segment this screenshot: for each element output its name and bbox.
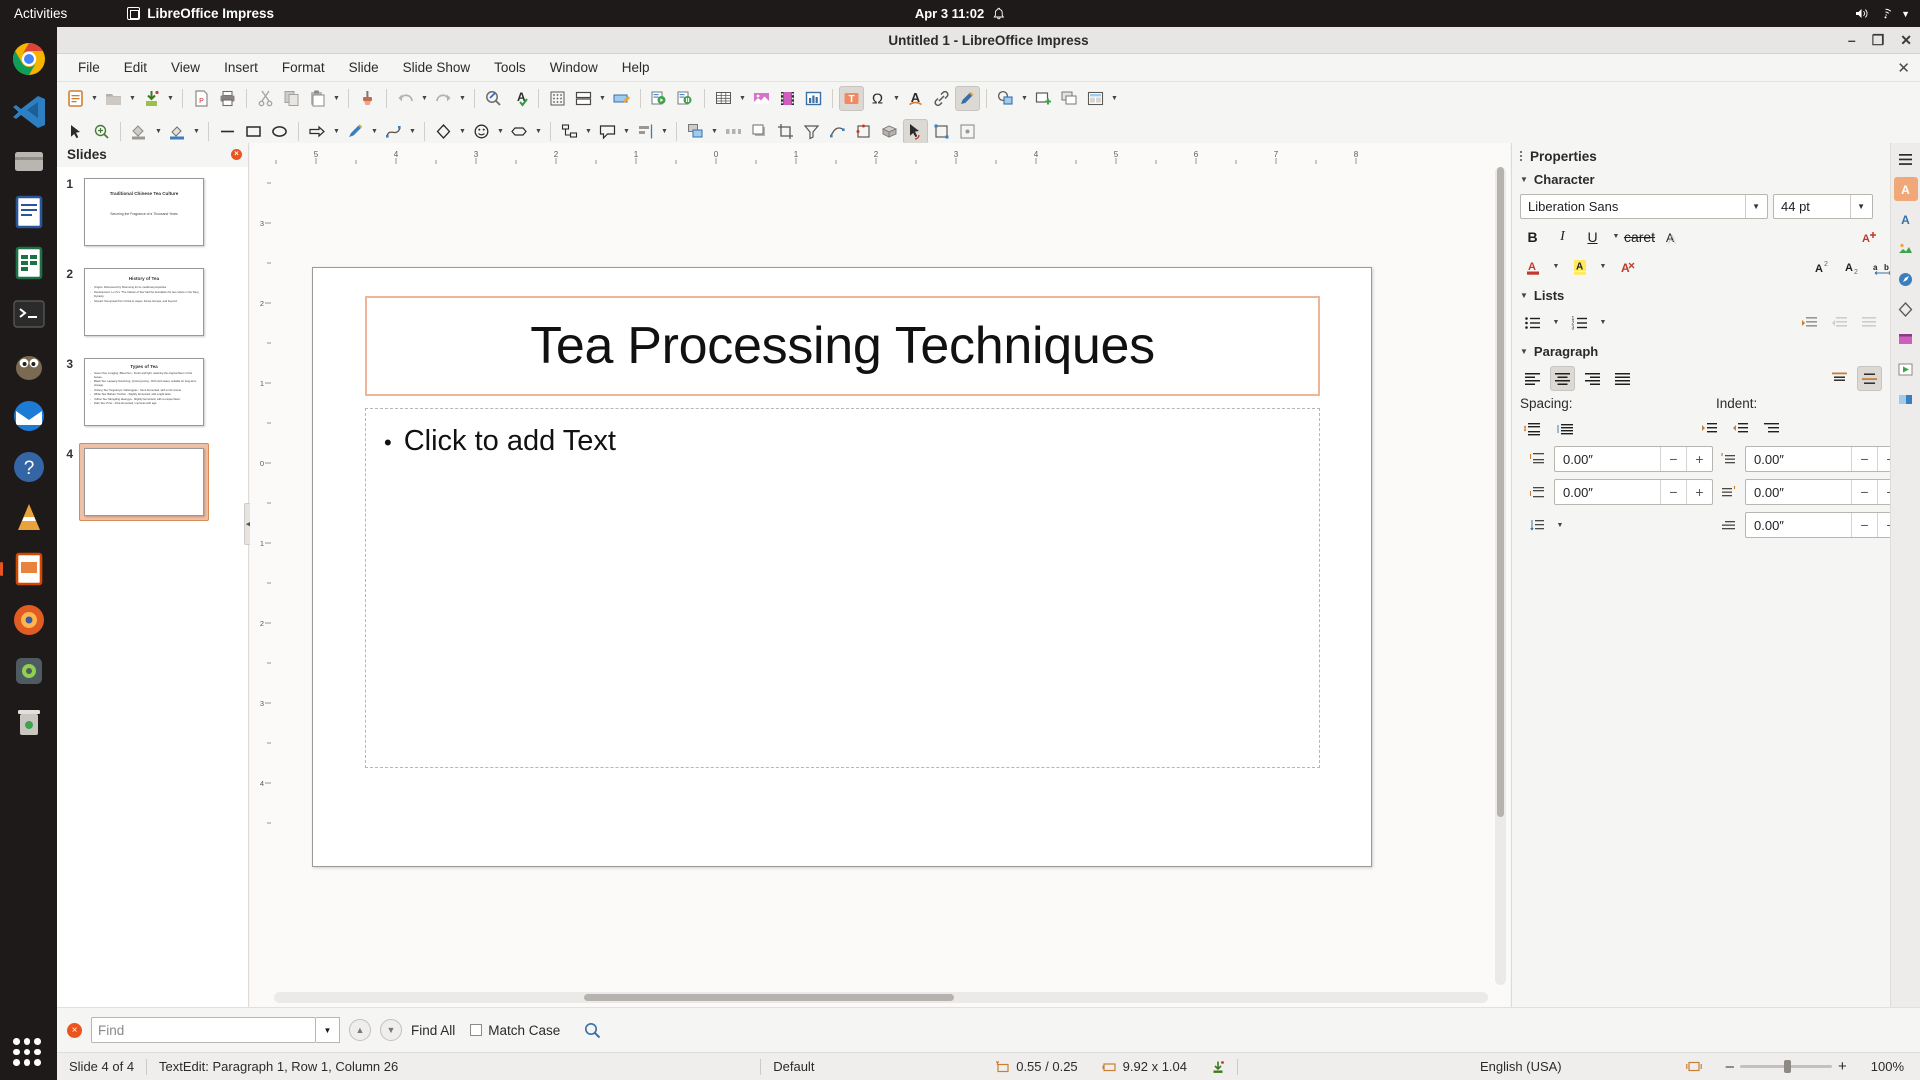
svg-text:2: 2 (1824, 261, 1828, 268)
dock-item-vlc[interactable] (9, 498, 49, 538)
save-state-status[interactable] (1199, 1053, 1237, 1080)
sidebar-grip-icon[interactable] (1520, 151, 1522, 161)
insert-table-icon[interactable] (711, 86, 736, 111)
paragraph-fields-grid: 0.00″ − + 0.00″ − + 0.00″ − + (1520, 446, 1912, 538)
toolbar-separator (298, 122, 299, 141)
vertical-ruler[interactable]: 3210 1234 (256, 163, 271, 993)
toolbar-separator (676, 122, 677, 141)
toolbar-separator (348, 89, 349, 108)
standard-toolbar[interactable]: ▼ ▼ ▼ P ▼ ▼ ▼ A ▼ ▼ (57, 82, 1920, 115)
font-row: Liberation Sans ▼ 44 pt ▼ (1520, 194, 1912, 219)
svg-text:A: A (1576, 261, 1583, 272)
promote-outline-button[interactable] (1827, 310, 1852, 335)
increment-button[interactable]: + (1686, 480, 1712, 504)
menu-help[interactable]: Help (611, 57, 661, 78)
points-icon[interactable] (825, 119, 850, 144)
thumb-title: History of Tea (91, 276, 197, 281)
basic-shapes-dropdown-icon[interactable]: ▼ (457, 119, 468, 144)
zoom-slider-handle[interactable] (1784, 1060, 1791, 1073)
vertical-scrollbar-thumb[interactable] (1497, 167, 1504, 817)
vertical-scrollbar[interactable] (1495, 167, 1506, 985)
slide-layout-icon[interactable] (1083, 86, 1108, 111)
find-input[interactable]: Find (91, 1017, 316, 1043)
find-and-replace-button[interactable] (583, 1021, 602, 1040)
display-views-icon[interactable] (571, 86, 596, 111)
rotate-icon[interactable] (903, 119, 928, 144)
insert-text-box-icon[interactable]: T (839, 86, 864, 111)
zoom-out-button[interactable]: – (1726, 1058, 1734, 1075)
insert-hyperlink-icon[interactable] (929, 86, 954, 111)
dock-item-libreoffice-impress[interactable] (9, 549, 49, 589)
line-color-dropdown-icon[interactable]: ▼ (191, 119, 202, 144)
menu-format[interactable]: Format (271, 57, 336, 78)
show-draw-functions-icon[interactable] (955, 86, 980, 111)
clone-formatting-icon[interactable] (355, 86, 380, 111)
display-views-dropdown-icon[interactable]: ▼ (597, 86, 608, 111)
increase-font-size-button[interactable]: A (1857, 224, 1882, 249)
paste-icon[interactable] (305, 86, 330, 111)
lines-and-arrows-icon[interactable] (343, 119, 368, 144)
character-section-header[interactable]: ▼ Character (1520, 169, 1912, 189)
symbol-shapes-icon[interactable] (469, 119, 494, 144)
find-history-dropdown-icon[interactable]: ▼ (316, 1017, 340, 1043)
close-document-button[interactable]: ✕ (1897, 59, 1910, 77)
align-left-button[interactable] (1520, 366, 1545, 391)
window-controls[interactable]: – ❐ ✕ (1848, 33, 1912, 47)
curves-dropdown-icon[interactable]: ▼ (407, 119, 418, 144)
center-vertically-button[interactable] (1857, 366, 1882, 391)
unordered-list-dropdown-icon[interactable]: ▼ (1550, 310, 1562, 335)
slide-thumbnail-2[interactable]: 2 History of Tea Origins: Discovered by … (57, 257, 248, 347)
font-name-value: Liberation Sans (1528, 199, 1745, 214)
clock-area[interactable]: Apr 3 11:02 (915, 6, 1005, 21)
svg-text:A: A (1901, 183, 1910, 197)
svg-text:A: A (1845, 262, 1853, 274)
after-text-indent-field[interactable]: 0.00″ − + (1745, 479, 1904, 505)
glue-points-icon[interactable] (851, 119, 876, 144)
svg-text:4: 4 (1034, 150, 1039, 159)
svg-text:2: 2 (1854, 269, 1858, 275)
zoom-slider-track[interactable] (1740, 1065, 1832, 1068)
zoom-level-status[interactable]: 100% (1859, 1053, 1920, 1080)
save-icon[interactable] (139, 86, 164, 111)
thumb-title: Traditional Chinese Tea Culture (91, 191, 197, 196)
show-gluepoint-functions-icon[interactable] (955, 119, 980, 144)
thumb-canvas: Traditional Chinese Tea Culture Savoring… (84, 178, 204, 246)
decrement-button[interactable]: − (1851, 447, 1877, 471)
find-and-replace-icon[interactable] (481, 86, 506, 111)
first-line-indent-field[interactable]: 0.00″ − + (1745, 512, 1904, 538)
close-button[interactable]: ✕ (1900, 33, 1912, 47)
menubar[interactable]: File Edit View Insert Format Slide Slide… (57, 54, 1920, 82)
tab-properties[interactable]: A (1894, 177, 1918, 201)
slide-layout-dropdown-icon[interactable]: ▼ (1109, 86, 1120, 111)
open-file-icon[interactable] (101, 86, 126, 111)
find-previous-button[interactable]: ▲ (349, 1019, 371, 1041)
undo-icon[interactable] (393, 86, 418, 111)
font-name-combo[interactable]: Liberation Sans ▼ (1520, 194, 1768, 219)
grid-icon (9, 1034, 45, 1070)
svg-text:7: 7 (1274, 150, 1279, 159)
sidebar-settings-button[interactable] (1894, 147, 1918, 171)
shadow-button[interactable]: AA (1657, 224, 1682, 249)
justified-button[interactable] (1610, 366, 1635, 391)
body-placeholder-text[interactable]: Click to add Text (404, 425, 616, 458)
align-objects-dropdown-icon[interactable]: ▼ (659, 119, 670, 144)
dock-item-thunderbird[interactable] (9, 396, 49, 436)
svg-text:2: 2 (260, 619, 264, 628)
chevron-down-icon[interactable]: ▼ (1520, 175, 1528, 184)
thumb-frame[interactable]: History of Tea Origins: Discovered by Sh… (79, 263, 209, 341)
canvas-wrapper[interactable]: Tea Processing Techniques • Click to add… (274, 167, 1490, 987)
insert-line-icon[interactable] (215, 119, 240, 144)
paragraph-section-label: Paragraph (1534, 344, 1598, 359)
decrement-button[interactable]: − (1660, 480, 1686, 504)
tab-shapes[interactable] (1894, 297, 1918, 321)
curves-and-polygons-icon[interactable] (381, 119, 406, 144)
character-section: ▼ Character Liberation Sans ▼ 44 pt ▼ B (1512, 169, 1920, 279)
find-all-button[interactable]: Find All (411, 1023, 455, 1038)
callout-shapes-icon[interactable] (595, 119, 620, 144)
increment-button[interactable]: + (1686, 447, 1712, 471)
svg-text:2: 2 (260, 299, 264, 308)
slide-thumbnail-3[interactable]: 3 Types of Tea Green Tea: Longjing, Bilu… (57, 347, 248, 437)
redo-dropdown-icon[interactable]: ▼ (457, 86, 468, 111)
slides-panel: Slides × 1 Traditional Chinese Tea Cultu… (57, 143, 249, 1007)
align-top-button[interactable] (1827, 366, 1852, 391)
thumb-bullet: White Tea: Baihao Yinzhen - Slightly fer… (90, 393, 199, 397)
insert-audio-video-icon[interactable] (775, 86, 800, 111)
svg-text:A: A (1901, 213, 1910, 227)
toolbar-separator (474, 89, 475, 108)
menu-view[interactable]: View (160, 57, 211, 78)
italic-button[interactable]: I (1550, 224, 1575, 249)
thumb-frame[interactable]: Types of Tea Green Tea: Longjing, Biluoc… (79, 353, 209, 431)
svg-text:1: 1 (794, 150, 799, 159)
align-center-button[interactable] (1550, 366, 1575, 391)
line-spacing-icon[interactable] (1528, 516, 1546, 534)
crop-image-icon[interactable] (773, 119, 798, 144)
thumb-title: Types of Tea (91, 364, 197, 369)
bell-icon (993, 7, 1005, 21)
duplicate-slide-icon[interactable] (1057, 86, 1082, 111)
system-tray[interactable]: ▼ (1855, 7, 1910, 20)
undo-dropdown-icon[interactable]: ▼ (419, 86, 430, 111)
svg-text:4: 4 (260, 779, 264, 788)
minimize-button[interactable]: – (1848, 33, 1856, 47)
svg-text:3: 3 (474, 150, 479, 159)
tab-master-slides[interactable] (1894, 327, 1918, 351)
toolbar-separator (986, 89, 987, 108)
decrement-button[interactable]: − (1851, 513, 1877, 537)
distribute-icon[interactable] (721, 119, 746, 144)
svg-text:6: 6 (1194, 150, 1199, 159)
maximize-button[interactable]: ❐ (1872, 33, 1885, 47)
insert-shape-icon[interactable] (993, 86, 1018, 111)
arrange-icon[interactable] (683, 119, 708, 144)
rectangle-icon[interactable] (241, 119, 266, 144)
above-paragraph-spacing-field[interactable]: 0.00″ − + (1554, 446, 1713, 472)
insert-table-dropdown-icon[interactable]: ▼ (737, 86, 748, 111)
chevron-down-icon[interactable]: ▼ (1520, 347, 1528, 356)
below-paragraph-spacing-field[interactable]: 0.00″ − + (1554, 479, 1713, 505)
font-color-dropdown-icon[interactable]: ▼ (1550, 254, 1562, 279)
dock-item-files[interactable] (9, 141, 49, 181)
slides-panel-close-icon[interactable]: × (231, 149, 242, 160)
body-placeholder-row[interactable]: • Click to add Text (384, 425, 616, 458)
decrement-button[interactable]: − (1660, 447, 1686, 471)
start-from-first-slide-icon[interactable] (647, 86, 672, 111)
symbol-shapes-dropdown-icon[interactable]: ▼ (495, 119, 506, 144)
tab-gallery[interactable] (1894, 237, 1918, 261)
slide-thumbnail-1[interactable]: 1 Traditional Chinese Tea Culture Savori… (57, 167, 248, 257)
new-document-icon[interactable] (63, 86, 88, 111)
fill-color-icon[interactable] (127, 119, 152, 144)
dock-item-visual-studio-code[interactable] (9, 90, 49, 130)
save-dropdown-icon[interactable]: ▼ (165, 86, 176, 111)
slide-thumbnail-4[interactable]: 4 (57, 437, 248, 527)
content-placeholder[interactable]: • Click to add Text (365, 408, 1320, 768)
chevron-down-icon[interactable]: ▼ (1520, 291, 1528, 300)
clear-formatting-button[interactable]: A (1614, 254, 1639, 279)
dock-item-firefox[interactable] (9, 600, 49, 640)
before-text-indent-field[interactable]: 0.00″ − + (1745, 446, 1904, 472)
thumb-bullet: Black Tea: Lapsang Souchong, Qi Hong Hon… (90, 380, 199, 388)
spelling-icon[interactable]: A (507, 86, 532, 111)
svg-text:A: A (1862, 233, 1870, 245)
insert-special-character-icon[interactable]: Ω (865, 86, 890, 111)
line-color-icon[interactable] (165, 119, 190, 144)
increase-paragraph-spacing-button[interactable] (1520, 416, 1545, 441)
lists-section: ▼ Lists ▼ 123 ▼ (1512, 285, 1920, 335)
indent-label: Indent: (1716, 396, 1757, 411)
below-spacing-icon (1528, 483, 1546, 501)
slide-number: 3 (59, 353, 79, 371)
basic-shapes-icon[interactable] (431, 119, 456, 144)
filter-icon[interactable] (799, 119, 824, 144)
chevron-down-icon[interactable]: ▼ (1745, 195, 1763, 218)
copy-icon[interactable] (279, 86, 304, 111)
toolbar-separator (208, 122, 209, 141)
lists-section-header[interactable]: ▼ Lists (1520, 285, 1912, 305)
menu-tools[interactable]: Tools (483, 57, 537, 78)
export-as-pdf-icon[interactable]: P (189, 86, 214, 111)
paste-dropdown-icon[interactable]: ▼ (331, 86, 342, 111)
fill-color-dropdown-icon[interactable]: ▼ (153, 119, 164, 144)
arrow-shape-icon[interactable] (305, 119, 330, 144)
gnome-top-bar: Activities LibreOffice Impress Apr 3 11:… (0, 0, 1920, 27)
impress-window: Untitled 1 - LibreOffice Impress – ❐ ✕ F… (57, 27, 1920, 1080)
below-spacing-value: 0.00″ (1555, 485, 1660, 500)
slide-number: 4 (59, 443, 79, 461)
bullet-icon: • (384, 432, 392, 454)
language-status: English (USA) (1468, 1053, 1574, 1080)
cut-icon[interactable] (253, 86, 278, 111)
toolbar-separator (832, 89, 833, 108)
superscript-button[interactable]: A2 (1810, 254, 1835, 279)
match-case-checkbox[interactable] (470, 1024, 482, 1036)
thumb-frame-selected[interactable] (79, 443, 209, 521)
thumb-bullet: Development: Lu Yu's "The Classic of Tea… (90, 291, 199, 299)
tab-slide-transition[interactable] (1894, 387, 1918, 411)
lists-buttons-row: ▼ 123 ▼ (1520, 310, 1912, 335)
tab-animation[interactable] (1894, 357, 1918, 381)
strikethrough-button[interactable]: caret (1627, 224, 1652, 249)
title-text[interactable]: Tea Processing Techniques (530, 316, 1155, 376)
match-case-label[interactable]: Match Case (488, 1023, 560, 1038)
unordered-list-button[interactable] (1520, 310, 1545, 335)
title-placeholder[interactable]: Tea Processing Techniques (365, 296, 1320, 396)
svg-text:4: 4 (394, 150, 399, 159)
tab-navigator[interactable] (1894, 267, 1918, 291)
print-icon[interactable] (215, 86, 240, 111)
main-area: Slides × 1 Traditional Chinese Tea Cultu… (57, 143, 1920, 1007)
dock-item-terminal[interactable] (9, 294, 49, 334)
svg-text:b: b (1884, 263, 1889, 272)
svg-text:3: 3 (260, 699, 264, 708)
chevron-down-icon[interactable]: ▼ (1850, 195, 1868, 218)
insert-image-icon[interactable] (749, 86, 774, 111)
svg-text:0: 0 (714, 150, 719, 159)
paragraph-section-header[interactable]: ▼ Paragraph (1520, 341, 1912, 361)
flowchart-shapes-icon[interactable] (557, 119, 582, 144)
show-applications-button[interactable] (9, 1034, 45, 1070)
fit-slide-button[interactable] (1674, 1053, 1714, 1080)
menu-insert[interactable]: Insert (213, 57, 269, 78)
before-indent-icon (1719, 450, 1737, 468)
new-slide-icon[interactable] (1031, 86, 1056, 111)
thumb-bullet: Dark Tea: Pu'er - Post-fermented, improv… (90, 402, 199, 406)
dock-item-trash[interactable] (9, 702, 49, 742)
thumb-bullets: Green Tea: Longjing, Biluochun - Fresh a… (90, 372, 199, 407)
svg-text:A: A (1528, 261, 1536, 273)
spacing-label: Spacing: (1520, 396, 1716, 411)
slide-edit-area[interactable]: 5432 1012 3456 78 3210 1234 (250, 143, 1510, 1007)
object-size-status: 9.92 x 1.04 (1090, 1053, 1199, 1080)
menu-window[interactable]: Window (539, 57, 609, 78)
horizontal-scrollbar[interactable] (274, 992, 1488, 1003)
bold-button[interactable]: B (1520, 224, 1545, 249)
dock-item-software[interactable] (9, 651, 49, 691)
activities-button[interactable]: Activities (14, 6, 67, 21)
sidebar-tab-strip[interactable]: A A (1890, 143, 1920, 1007)
horizontal-ruler[interactable]: 5432 1012 3456 78 (268, 149, 1496, 164)
decrease-indent-button[interactable] (1728, 416, 1753, 441)
new-document-dropdown-icon[interactable]: ▼ (89, 86, 100, 111)
insert-shape-dropdown-icon[interactable]: ▼ (1019, 86, 1030, 111)
find-toolbar[interactable]: × Find ▼ ▲ ▼ Find All Match Case (57, 1007, 1920, 1052)
horizontal-scrollbar-thumb[interactable] (584, 994, 954, 1001)
increase-indent-button[interactable] (1697, 416, 1722, 441)
arrow-shape-dropdown-icon[interactable]: ▼ (331, 119, 342, 144)
menu-edit[interactable]: Edit (113, 57, 158, 78)
shadow-icon[interactable] (747, 119, 772, 144)
font-size-combo[interactable]: 44 pt ▼ (1773, 194, 1873, 219)
underline-button[interactable]: U (1580, 224, 1605, 249)
font-size-value: 44 pt (1781, 199, 1850, 214)
active-app-label: LibreOffice Impress (147, 6, 274, 21)
ordered-list-dropdown-icon[interactable]: ▼ (1597, 310, 1609, 335)
start-from-current-slide-icon[interactable] (673, 86, 698, 111)
zoom-slider[interactable]: – + (1714, 1053, 1859, 1080)
dock-item-libreoffice-calc[interactable] (9, 243, 49, 283)
svg-text:Ω: Ω (872, 91, 883, 108)
toggle-extrusion-icon[interactable] (877, 119, 902, 144)
arrange-dropdown-icon[interactable]: ▼ (709, 119, 720, 144)
lines-and-arrows-dropdown-icon[interactable]: ▼ (369, 119, 380, 144)
dock-item-gimp[interactable] (9, 345, 49, 385)
select-tool-icon[interactable] (63, 119, 88, 144)
align-objects-icon[interactable] (633, 119, 658, 144)
dock-item-help[interactable]: ? (9, 447, 49, 487)
after-indent-icon (1719, 483, 1737, 501)
thumb-bullet: Origins: Discovered by Shennong for its … (90, 286, 199, 290)
callout-dropdown-icon[interactable]: ▼ (621, 119, 632, 144)
active-app-indicator[interactable]: LibreOffice Impress (127, 6, 274, 21)
menu-file[interactable]: File (67, 57, 111, 78)
align-right-button[interactable] (1580, 366, 1605, 391)
underline-dropdown-icon[interactable]: ▼ (1610, 224, 1622, 249)
flowchart-dropdown-icon[interactable]: ▼ (583, 119, 594, 144)
line-spacing-dropdown-icon[interactable]: ▼ (1554, 513, 1566, 538)
ubuntu-dock[interactable]: ? (0, 27, 57, 1080)
open-file-dropdown-icon[interactable]: ▼ (127, 86, 138, 111)
svg-text:A: A (1621, 261, 1630, 275)
ordered-list-button[interactable]: 123 (1567, 310, 1592, 335)
highlighting-color-button[interactable]: A (1567, 254, 1592, 279)
font-color-button[interactable]: A (1520, 254, 1545, 279)
move-down-button[interactable] (1857, 310, 1882, 335)
insert-fontwork-icon[interactable]: A (903, 86, 928, 111)
find-next-button[interactable]: ▼ (380, 1019, 402, 1041)
zoom-in-button[interactable]: + (1838, 1058, 1847, 1075)
insert-chart-icon[interactable] (801, 86, 826, 111)
find-close-icon[interactable]: × (67, 1023, 82, 1038)
demote-outline-button[interactable] (1797, 310, 1822, 335)
highlight-dropdown-icon[interactable]: ▼ (1597, 254, 1609, 279)
transformations-icon[interactable] (929, 119, 954, 144)
subscript-button[interactable]: A2 (1840, 254, 1865, 279)
tab-styles[interactable]: A (1894, 207, 1918, 231)
block-arrows-dropdown-icon[interactable]: ▼ (533, 119, 544, 144)
svg-text:5: 5 (1114, 150, 1119, 159)
decrement-button[interactable]: − (1851, 480, 1877, 504)
zoom-tool-icon[interactable] (89, 119, 114, 144)
menu-slide[interactable]: Slide (338, 57, 390, 78)
special-character-dropdown-icon[interactable]: ▼ (891, 86, 902, 111)
hanging-indent-button[interactable] (1759, 416, 1784, 441)
dock-item-libreoffice-writer[interactable] (9, 192, 49, 232)
block-arrows-icon[interactable] (507, 119, 532, 144)
thumb-frame[interactable]: Traditional Chinese Tea Culture Savoring… (79, 173, 209, 251)
svg-text:1: 1 (260, 539, 264, 548)
dock-item-google-chrome[interactable] (9, 39, 49, 79)
sidebar-header: Properties × (1512, 143, 1920, 169)
thumb-subtitle: Savoring the Fragrance of a Thousand Yea… (93, 212, 195, 216)
above-spacing-value: 0.00″ (1555, 452, 1660, 467)
master-slide-status: Default (761, 1053, 826, 1080)
slide-list[interactable]: 1 Traditional Chinese Tea Culture Savori… (57, 167, 248, 1007)
slide-canvas[interactable]: Tea Processing Techniques • Click to add… (312, 267, 1372, 867)
display-grid-icon[interactable] (545, 86, 570, 111)
after-indent-value: 0.00″ (1746, 485, 1851, 500)
ellipse-icon[interactable] (267, 119, 292, 144)
paragraph-align-row (1520, 366, 1912, 391)
menu-slide-show[interactable]: Slide Show (392, 57, 482, 78)
master-slide-icon[interactable] (609, 86, 634, 111)
redo-icon[interactable] (431, 86, 456, 111)
decrease-paragraph-spacing-button[interactable] (1553, 416, 1578, 441)
